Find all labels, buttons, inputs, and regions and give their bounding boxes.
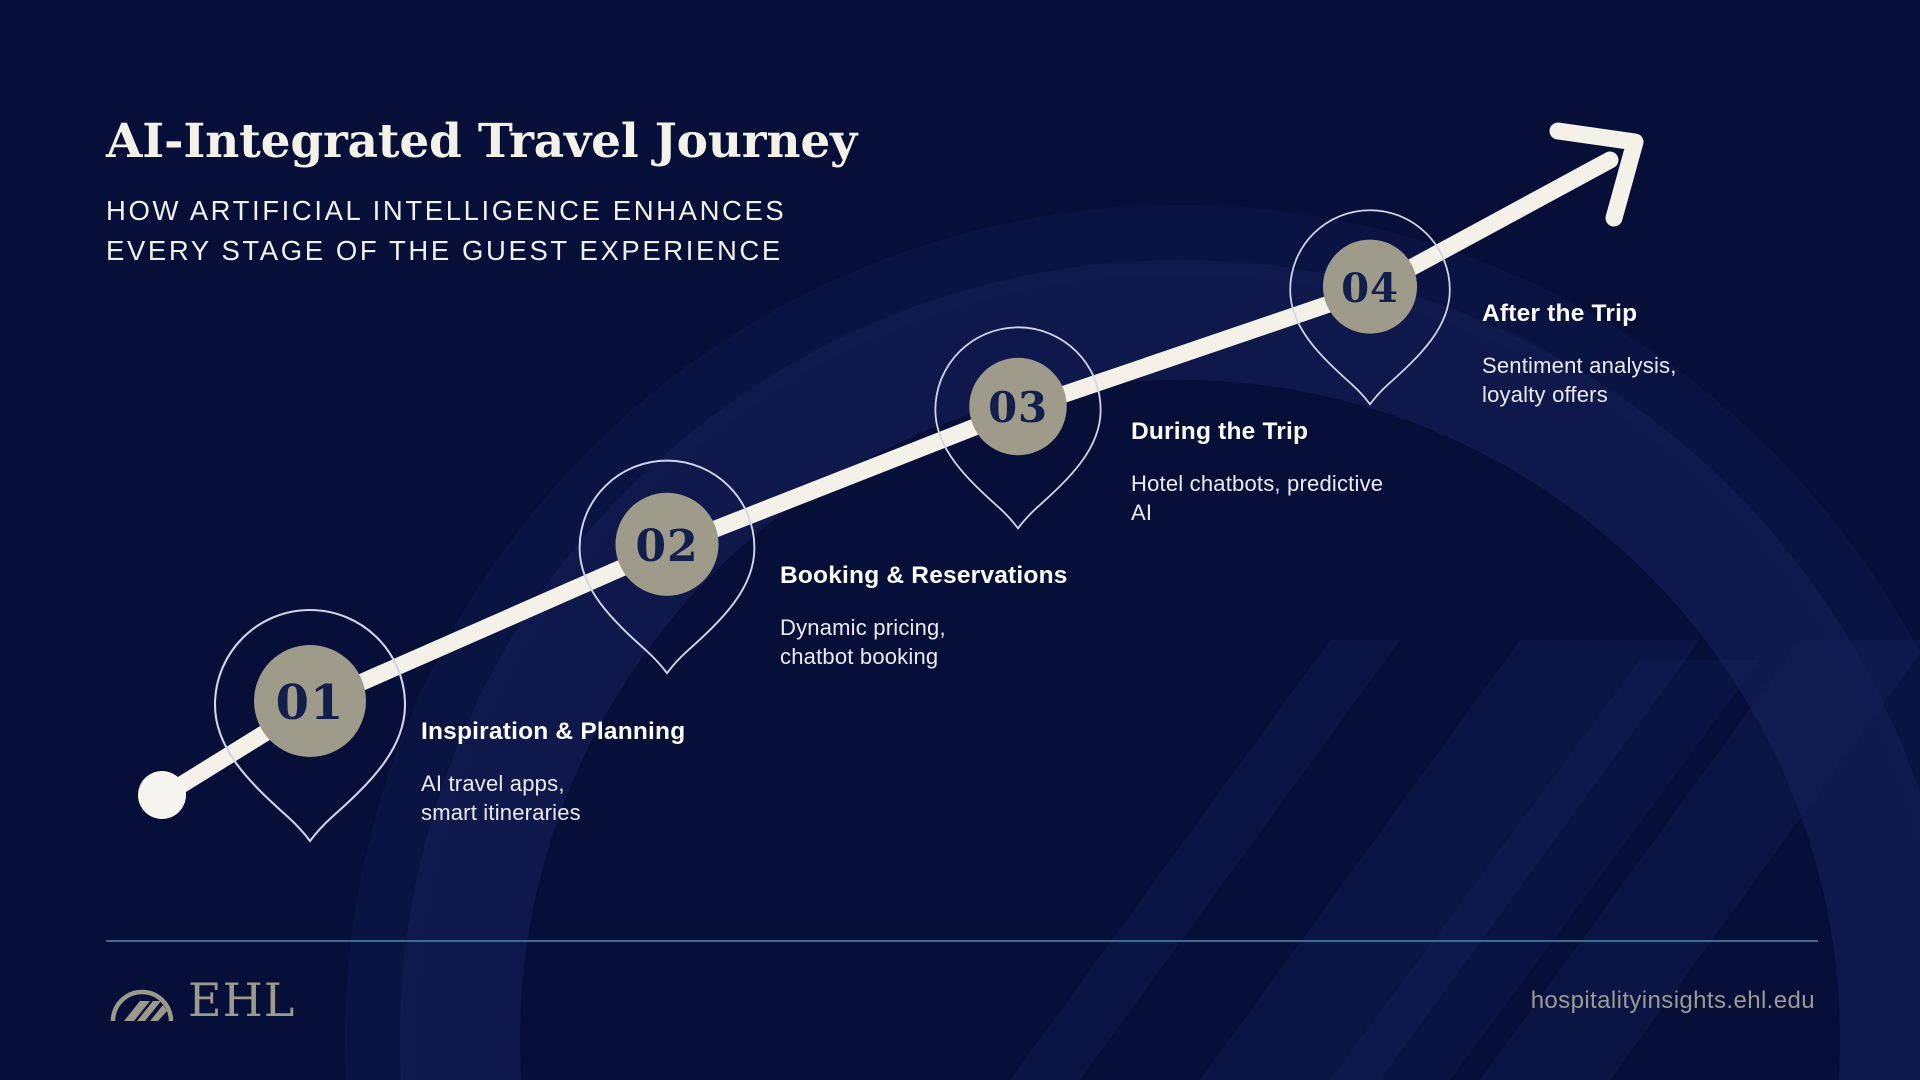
footer-bar: EHL hospitalityinsights.ehl.edu — [0, 975, 1920, 1050]
pin-01[interactable]: 01 — [215, 610, 405, 841]
start-dot — [138, 771, 186, 819]
stage-02-title: Booking & Reservations — [780, 562, 1068, 590]
ehl-logo-mark-icon — [110, 975, 174, 1025]
site-url[interactable]: hospitalityinsights.ehl.edu — [1531, 987, 1815, 1015]
stage-label-03: During the Trip Hotel chatbots, predicti… — [1131, 418, 1383, 528]
pin-04-number: 04 — [1341, 264, 1399, 312]
stage-02-description: Dynamic pricing, chatbot booking — [780, 613, 1068, 672]
pin-03-number: 03 — [988, 383, 1048, 432]
ehl-logo-text: EHL — [188, 977, 295, 1023]
pin-01-number: 01 — [276, 675, 345, 731]
header-block: AI-Integrated Travel Journey HOW ARTIFIC… — [106, 116, 857, 272]
stage-03-description: Hotel chatbots, predictive AI — [1131, 469, 1383, 528]
page-subtitle: HOW ARTIFICIAL INTELLIGENCE ENHANCES EVE… — [106, 191, 857, 272]
stage-04-description: Sentiment analysis, loyalty offers — [1482, 351, 1677, 410]
stage-label-02: Booking & Reservations Dynamic pricing, … — [780, 562, 1068, 672]
stage-01-title: Inspiration & Planning — [421, 718, 685, 746]
page-title: AI-Integrated Travel Journey — [106, 116, 857, 169]
footer-divider — [106, 940, 1818, 942]
ehl-logo[interactable]: EHL — [110, 975, 295, 1025]
stage-label-04: After the Trip Sentiment analysis, loyal… — [1482, 300, 1677, 410]
stage-01-description: AI travel apps, smart itineraries — [421, 769, 685, 828]
pin-02-number: 02 — [635, 521, 698, 572]
stage-03-title: During the Trip — [1131, 418, 1383, 446]
stage-label-01: Inspiration & Planning AI travel apps, s… — [421, 718, 685, 828]
stage-04-title: After the Trip — [1482, 300, 1677, 328]
